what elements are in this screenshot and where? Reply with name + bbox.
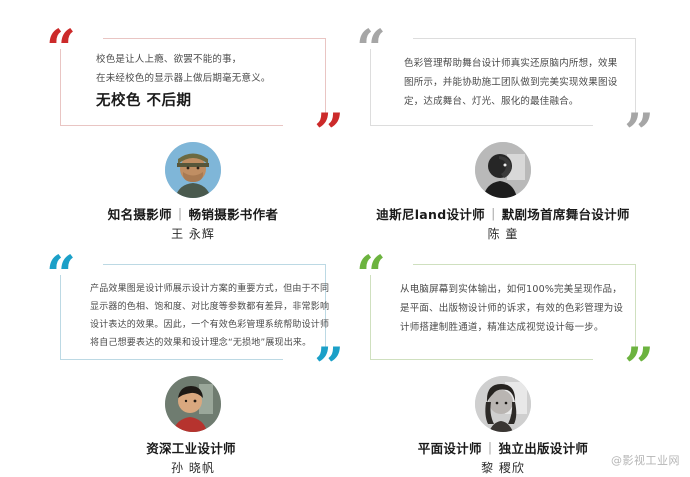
quote-line: 是平面、出版物设计师的诉求，有效的色彩管理为设 [400,299,620,318]
role-line: 迪斯尼land设计师｜默剧场首席舞台设计师 [348,206,658,224]
role-primary: 平面设计师 [418,441,482,456]
person-name: 陈 童 [348,225,658,243]
role-primary: 知名摄影师 [108,207,172,222]
avatar-li-jixin [475,376,531,432]
open-quote-icon: “ [356,250,384,302]
quote-line: 显示器的色相、饱和度、对比度等参数都有差异，非常影响 [90,298,310,316]
testimonial-card-top-right: “ ” 色彩管理帮助舞台设计师真实还原脑内所想，效果 图所示，并能协助施工团队做… [348,16,658,244]
quote-line: 定，达成舞台、灯光、服化的最佳融合。 [404,92,624,111]
quote-line: 将自己想要表达的效果和设计理念“无损地”展现出来。 [90,334,310,352]
person-name: 孙 晓帆 [38,459,348,477]
open-quote-icon: “ [46,250,74,302]
role-line: 资深工业设计师 [38,440,348,458]
quote-text: 从电脑屏幕到实体输出，如何100%完美呈现作品， 是平面、出版物设计师的诉求，有… [400,280,620,337]
open-quote-icon: “ [356,24,384,76]
quote-line: 在未经校色的显示器上做后期毫无意义。 [96,69,316,88]
quote-line: 从电脑屏幕到实体输出，如何100%完美呈现作品， [400,280,620,299]
testimonial-card-bottom-left: “ ” 产品效果图是设计师展示设计方案的重要方式，但由于不同 显示器的色相、饱和… [38,242,348,470]
quote-line: 计师搭建制胜通道，精准达成视觉设计每一步。 [400,318,620,337]
quote-headline: 无校色 不后期 [96,89,316,113]
close-quote-icon: ” [314,342,342,394]
site-watermark: @影视工业网 [611,452,680,468]
role-separator: ｜ [172,207,189,222]
testimonial-board: “ ” 校色是让人上瘾、欲罢不能的事， 在未经校色的显示器上做后期毫无意义。 无… [0,0,690,476]
quote-text: 色彩管理帮助舞台设计师真实还原脑内所想，效果 图所示，并能协助施工团队做到完美实… [404,54,624,111]
quote-line: 色彩管理帮助舞台设计师真实还原脑内所想，效果 [404,54,624,73]
testimonial-card-bottom-right: “ ” 从电脑屏幕到实体输出，如何100%完美呈现作品， 是平面、出版物设计师的… [348,242,658,470]
caption: 知名摄影师｜畅销摄影书作者 王 永辉 [38,206,348,243]
avatar-wang-yonghui [165,142,221,198]
role-secondary: 默剧场首席舞台设计师 [502,207,630,222]
quote-line: 产品效果图是设计师展示设计方案的重要方式，但由于不同 [90,280,310,298]
role-separator: ｜ [482,441,499,456]
caption: 迪斯尼land设计师｜默剧场首席舞台设计师 陈 童 [348,206,658,243]
close-quote-icon: ” [624,108,652,160]
quote-line: 设计表达的效果。因此，一个有效色彩管理系统帮助设计师 [90,316,310,334]
quote-line: 校色是让人上瘾、欲罢不能的事， [96,50,316,69]
testimonial-card-top-left: “ ” 校色是让人上瘾、欲罢不能的事， 在未经校色的显示器上做后期毫无意义。 无… [38,16,348,244]
avatar-sun-xiaofan [165,376,221,432]
avatar-chen-tong [475,142,531,198]
person-name: 王 永辉 [38,225,348,243]
close-quote-icon: ” [314,108,342,160]
role-primary: 迪斯尼land设计师 [376,207,485,222]
role-secondary: 独立出版设计师 [499,441,589,456]
role-primary: 资深工业设计师 [146,441,236,456]
close-quote-icon: ” [624,342,652,394]
caption: 资深工业设计师 孙 晓帆 [38,440,348,477]
quote-line: 图所示，并能协助施工团队做到完美实现效果图设 [404,73,624,92]
quote-text: 校色是让人上瘾、欲罢不能的事， 在未经校色的显示器上做后期毫无意义。 无校色 不… [96,50,316,113]
role-separator: ｜ [485,207,502,222]
role-secondary: 畅销摄影书作者 [189,207,279,222]
open-quote-icon: “ [46,24,74,76]
role-line: 知名摄影师｜畅销摄影书作者 [38,206,348,224]
role-separator [236,441,240,456]
quote-text: 产品效果图是设计师展示设计方案的重要方式，但由于不同 显示器的色相、饱和度、对比… [90,280,310,352]
